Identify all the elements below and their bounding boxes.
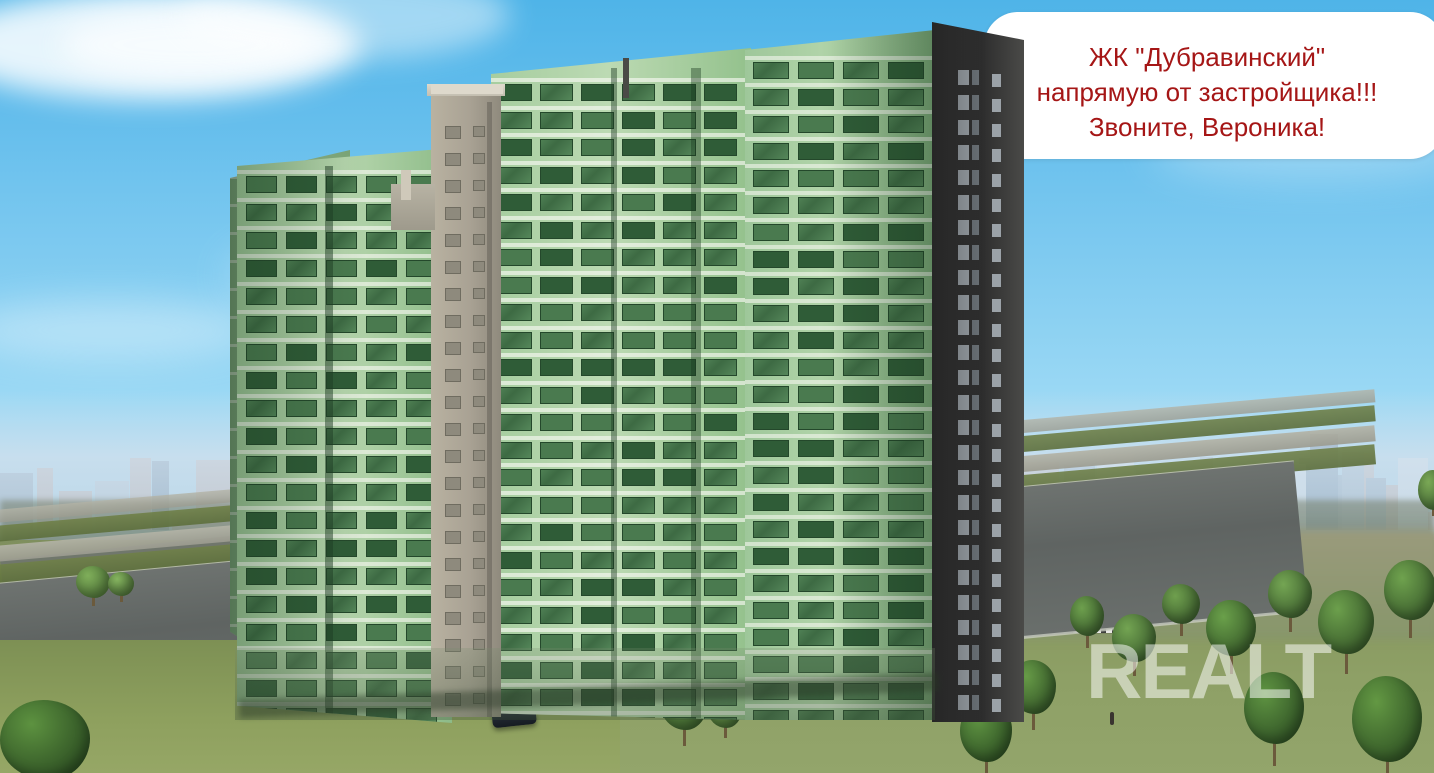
window	[704, 387, 737, 404]
window	[622, 579, 655, 596]
building-block-a	[237, 148, 452, 723]
sidewall-shadow	[932, 22, 1024, 722]
window	[499, 387, 532, 404]
realt-watermark: REALT	[1086, 632, 1330, 710]
core-window	[473, 369, 485, 380]
core-window	[473, 423, 485, 434]
window	[540, 139, 573, 156]
core-window	[445, 477, 461, 490]
core-window	[445, 126, 461, 139]
core-window	[473, 504, 485, 515]
floor-band	[491, 491, 751, 495]
window	[581, 579, 614, 596]
core-window	[445, 612, 461, 625]
window	[704, 579, 737, 596]
floor-band	[491, 601, 751, 605]
window	[581, 524, 614, 541]
core-window	[445, 315, 461, 328]
window	[581, 387, 614, 404]
window	[581, 249, 614, 266]
building-dark-sidewall	[932, 22, 1024, 722]
callout-line-2: напрямую от застройщика!!!	[984, 75, 1430, 110]
window	[540, 332, 573, 349]
window	[622, 167, 655, 184]
balcony-divider	[691, 68, 701, 718]
window	[581, 167, 614, 184]
floor-band	[491, 326, 751, 330]
window	[704, 222, 737, 239]
window	[581, 222, 614, 239]
callout-line-3: Звоните, Вероника!	[984, 110, 1430, 145]
window	[540, 524, 573, 541]
core-window	[445, 450, 461, 463]
window	[581, 359, 614, 376]
window	[540, 359, 573, 376]
window	[622, 552, 655, 569]
core-window	[473, 153, 485, 164]
window	[499, 304, 532, 321]
window	[540, 579, 573, 596]
window	[581, 469, 614, 486]
window	[581, 497, 614, 514]
window	[499, 469, 532, 486]
window	[540, 84, 573, 101]
core-window	[473, 180, 485, 191]
building-block-b	[491, 48, 751, 720]
window	[622, 442, 655, 459]
core-window	[473, 450, 485, 461]
window	[704, 194, 737, 211]
floor-band	[491, 188, 751, 192]
floor-band	[491, 463, 751, 467]
window	[540, 552, 573, 569]
chimney	[401, 170, 411, 200]
roof-parapet	[431, 84, 503, 94]
window	[581, 332, 614, 349]
window	[704, 552, 737, 569]
window	[581, 112, 614, 129]
window	[540, 387, 573, 404]
core-window	[473, 477, 485, 488]
window	[622, 112, 655, 129]
floor-band	[491, 573, 751, 577]
window	[704, 249, 737, 266]
window	[581, 552, 614, 569]
window	[622, 497, 655, 514]
window	[581, 84, 614, 101]
floor-band	[491, 271, 751, 275]
window	[499, 112, 532, 129]
window	[499, 139, 532, 156]
tree-canopy	[108, 572, 134, 596]
window	[581, 414, 614, 431]
window	[622, 139, 655, 156]
core-window	[473, 315, 485, 326]
core-window	[445, 585, 461, 598]
window	[499, 442, 532, 459]
core-window	[473, 342, 485, 353]
core-window	[473, 288, 485, 299]
window	[499, 579, 532, 596]
tree-canopy	[76, 566, 110, 598]
window	[499, 524, 532, 541]
floor-band	[491, 78, 751, 82]
window	[704, 607, 737, 624]
window	[540, 607, 573, 624]
apartment-building	[195, 0, 1025, 773]
core-window	[445, 180, 461, 193]
window	[540, 497, 573, 514]
window	[540, 194, 573, 211]
core-window	[445, 396, 461, 409]
window	[540, 277, 573, 294]
core-window	[445, 342, 461, 355]
core-window	[445, 288, 461, 301]
window	[581, 304, 614, 321]
tree-canopy	[1268, 570, 1312, 618]
core-window	[473, 531, 485, 542]
window	[581, 139, 614, 156]
window	[622, 387, 655, 404]
facade-shadow	[237, 148, 452, 723]
floor-band	[491, 353, 751, 357]
window	[622, 194, 655, 211]
window	[704, 304, 737, 321]
contact-callout-box: ЖК "Дубравинский" напрямую от застройщик…	[984, 12, 1434, 159]
window	[622, 359, 655, 376]
tree-canopy	[1352, 676, 1422, 762]
facade-shadow	[745, 30, 935, 720]
window	[704, 139, 737, 156]
window	[704, 112, 737, 129]
window	[581, 194, 614, 211]
window	[499, 497, 532, 514]
window	[622, 277, 655, 294]
floor-band	[491, 518, 751, 522]
core-window	[473, 585, 485, 596]
floor-band	[491, 546, 751, 550]
window	[704, 469, 737, 486]
core-window	[445, 531, 461, 544]
core-window	[445, 207, 461, 220]
window	[499, 552, 532, 569]
window	[499, 167, 532, 184]
core-window	[445, 369, 461, 382]
window	[499, 332, 532, 349]
floor-band	[491, 298, 751, 302]
window	[540, 469, 573, 486]
window	[704, 167, 737, 184]
window	[581, 442, 614, 459]
callout-text: ЖК "Дубравинский" напрямую от застройщик…	[984, 40, 1430, 145]
floor-band	[491, 628, 751, 632]
window	[499, 414, 532, 431]
floor-band	[491, 436, 751, 440]
core-window	[445, 558, 461, 571]
window	[540, 222, 573, 239]
balcony-divider	[611, 68, 617, 718]
window	[499, 194, 532, 211]
core-window	[473, 261, 485, 272]
core-window	[473, 234, 485, 245]
callout-line-1: ЖК "Дубравинский"	[984, 40, 1430, 75]
window	[622, 524, 655, 541]
window	[704, 414, 737, 431]
tree-canopy	[1162, 584, 1200, 624]
tree-canopy	[1384, 560, 1434, 620]
window	[540, 112, 573, 129]
floor-band	[491, 133, 751, 137]
window	[540, 167, 573, 184]
floor-band	[491, 243, 751, 247]
window	[581, 607, 614, 624]
core-window	[445, 504, 461, 517]
window	[704, 524, 737, 541]
window	[499, 222, 532, 239]
floor-band	[491, 381, 751, 385]
window	[622, 304, 655, 321]
core-window	[445, 234, 461, 247]
floor-band	[491, 161, 751, 165]
window	[540, 249, 573, 266]
window	[622, 222, 655, 239]
window	[540, 442, 573, 459]
building-block-c	[745, 30, 935, 720]
window	[622, 249, 655, 266]
window	[622, 414, 655, 431]
window	[704, 332, 737, 349]
window	[499, 249, 532, 266]
window	[581, 277, 614, 294]
core-window	[473, 207, 485, 218]
floor-band	[491, 106, 751, 110]
core-window	[473, 558, 485, 569]
core-window	[473, 396, 485, 407]
core-window	[445, 423, 461, 436]
window	[704, 84, 737, 101]
floor-band	[491, 216, 751, 220]
building-stair-core	[431, 92, 501, 717]
window	[499, 607, 532, 624]
core-window	[445, 153, 461, 166]
core-window	[473, 126, 485, 137]
window	[622, 607, 655, 624]
core-window	[473, 612, 485, 623]
window	[499, 359, 532, 376]
window	[704, 497, 737, 514]
window	[704, 277, 737, 294]
tree-canopy	[0, 700, 90, 773]
window	[499, 277, 532, 294]
floor-band	[491, 408, 751, 412]
window	[704, 359, 737, 376]
window	[540, 304, 573, 321]
core-edge-shadow	[487, 102, 492, 717]
window	[704, 442, 737, 459]
screenshot-canvas: Расчет рассрочки, кредита Стадия строите…	[0, 0, 1434, 773]
roof-plant-box	[391, 184, 435, 230]
roof-antenna	[623, 58, 629, 98]
core-window	[445, 261, 461, 274]
window	[540, 414, 573, 431]
window	[622, 332, 655, 349]
window	[622, 469, 655, 486]
